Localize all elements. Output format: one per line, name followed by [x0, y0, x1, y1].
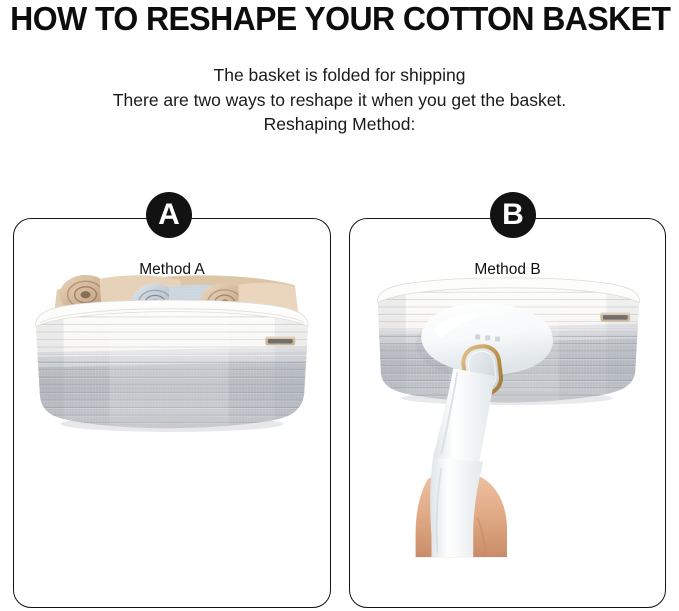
method-a-badge: A — [146, 192, 192, 238]
intro-paragraph: The basket is folded for shipping There … — [0, 63, 679, 137]
intro-line-2: There are two ways to reshape it when yo… — [0, 88, 679, 113]
page-title: HOW TO RESHAPE YOUR COTTON BASKET — [10, 0, 669, 40]
basket-handle-slot — [600, 313, 630, 322]
basket-with-blankets-image — [14, 219, 330, 607]
method-card-b: Method B Steaming a basket on a steam ir… — [349, 218, 666, 608]
cotton-rope-basket — [28, 300, 318, 438]
method-b-badge: B — [490, 192, 536, 238]
intro-line-1: The basket is folded for shipping — [0, 63, 679, 88]
basket-handle-slot — [265, 336, 295, 345]
method-card-a: Method A Stuffing the basket with blan- … — [13, 218, 331, 608]
hand-holding-steamer — [416, 458, 507, 557]
basket-with-steamer-image — [350, 219, 665, 607]
intro-line-3: Reshaping Method: — [0, 112, 679, 137]
